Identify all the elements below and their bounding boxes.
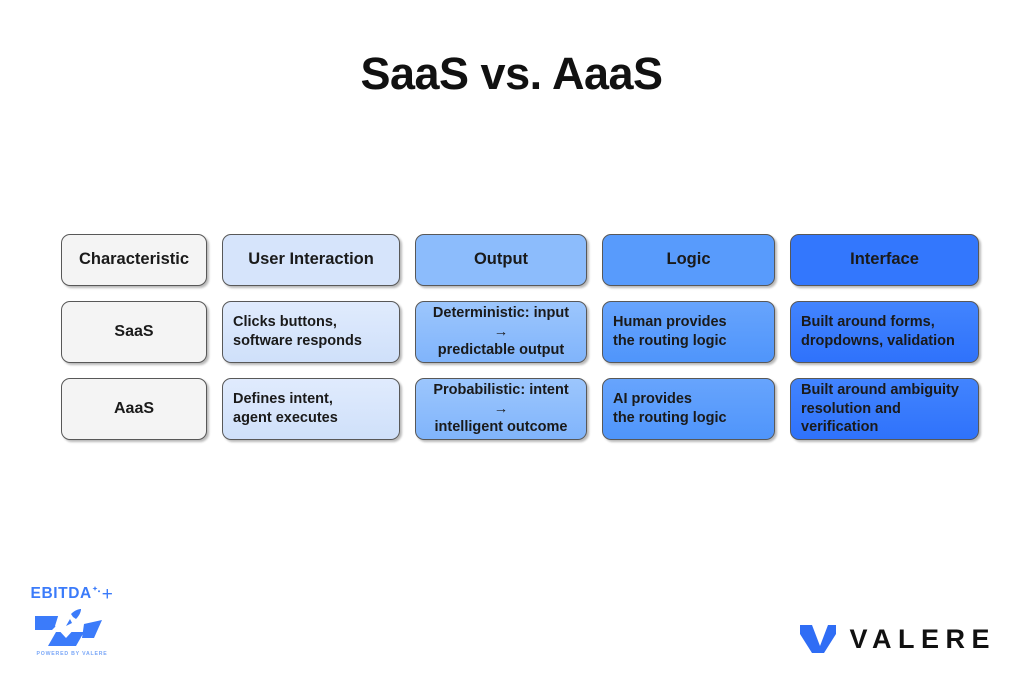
column-header-user-interaction: User Interaction [222, 234, 400, 286]
cell-text: Defines intent, agent executes [233, 390, 338, 428]
column-header-characteristic: Characteristic [61, 234, 207, 286]
cell-text: AI provides the routing logic [613, 390, 727, 428]
column-header-interface: Interface [790, 234, 979, 286]
valere-logo: VALERE [798, 622, 996, 656]
cell-aaas-logic: AI provides the routing logic [602, 378, 775, 440]
column-header-label: User Interaction [248, 249, 374, 270]
cell-saas-interface: Built around forms, dropdowns, validatio… [790, 301, 979, 363]
row-label-saas: SaaS [61, 301, 207, 363]
cell-aaas-output: Probabilistic: intent → intelligent outc… [415, 378, 587, 440]
cell-text: Deterministic: input → predictable outpu… [426, 304, 576, 361]
ebitda-tagline: POWERED BY VALERE [22, 651, 122, 657]
row-label-text: AaaS [114, 399, 154, 420]
valere-v-mark-icon [798, 622, 838, 656]
cell-aaas-user-interaction: Defines intent, agent executes [222, 378, 400, 440]
comparison-table: Characteristic User Interaction Output L… [61, 234, 979, 440]
sparkle-icon [92, 586, 101, 595]
ebitda-wordmark: EBITDA + [22, 586, 122, 604]
page-title: SaaS vs. AaaS [0, 48, 1023, 100]
cell-saas-logic: Human provides the routing logic [602, 301, 775, 363]
cell-saas-user-interaction: Clicks buttons, software responds [222, 301, 400, 363]
row-label-aaas: AaaS [61, 378, 207, 440]
column-header-label: Logic [667, 249, 711, 270]
valere-wordmark: VALERE [849, 624, 996, 655]
row-label-text: SaaS [114, 322, 153, 343]
column-header-label: Interface [850, 249, 919, 270]
cell-text: Built around forms, dropdowns, validatio… [801, 313, 955, 351]
column-header-output: Output [415, 234, 587, 286]
ebitda-plus-logo: EBITDA + POWERED BY VALERE [22, 586, 122, 664]
column-header-logic: Logic [602, 234, 775, 286]
ebitda-plus-sign: + [102, 586, 114, 604]
cell-text: Clicks buttons, software responds [233, 313, 362, 351]
table-row-saas: SaaS Clicks buttons, software responds D… [61, 301, 979, 363]
table-header-row: Characteristic User Interaction Output L… [61, 234, 979, 286]
column-header-label: Output [474, 249, 528, 270]
ebitda-wordmark-text: EBITDA [31, 586, 92, 602]
cell-aaas-interface: Built around ambiguity resolution and ve… [790, 378, 979, 440]
column-header-label: Characteristic [79, 249, 189, 270]
ebitda-rocket-mark [22, 608, 122, 648]
cell-text: Built around ambiguity resolution and ve… [801, 381, 968, 438]
cell-saas-output: Deterministic: input → predictable outpu… [415, 301, 587, 363]
cell-text: Human provides the routing logic [613, 313, 727, 351]
cell-text: Probabilistic: intent → intelligent outc… [426, 381, 576, 438]
table-row-aaas: AaaS Defines intent, agent executes Prob… [61, 378, 979, 440]
